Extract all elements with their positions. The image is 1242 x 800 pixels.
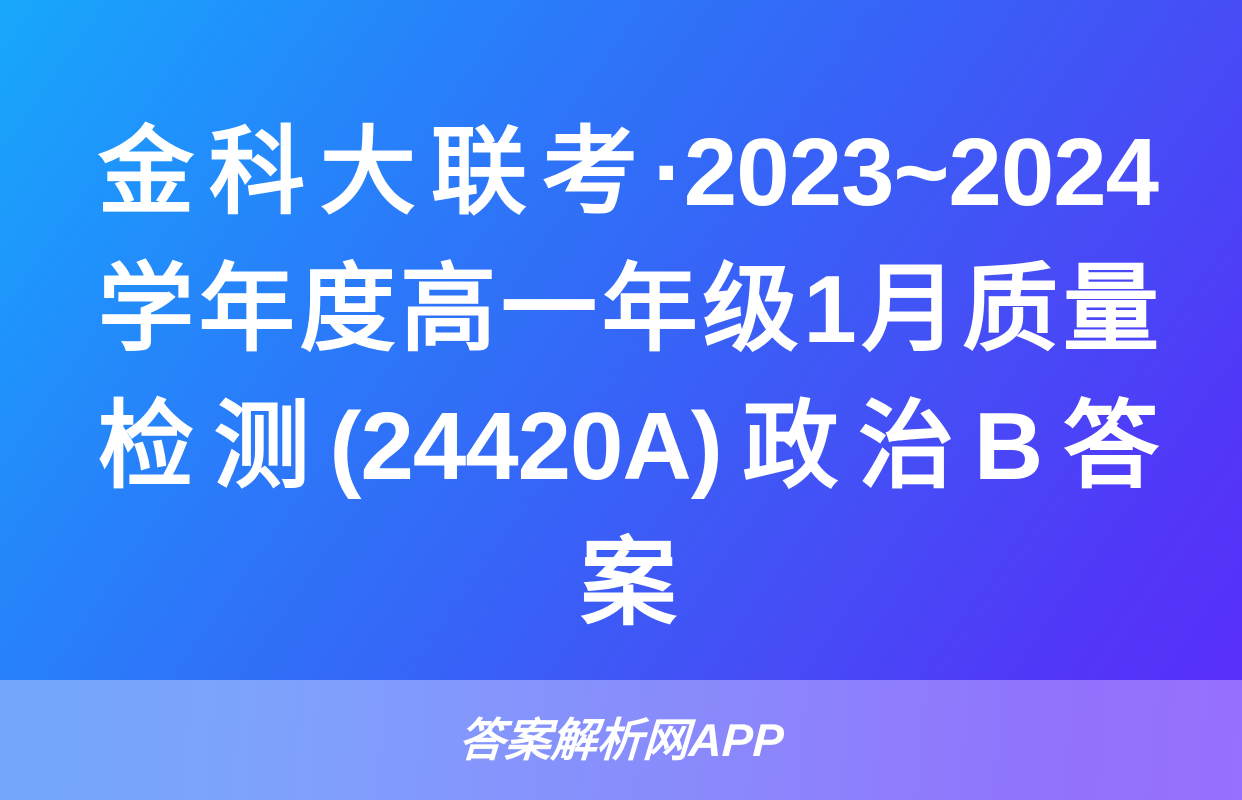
title-line-3: 检测(24420A)政治B答 [98, 378, 1158, 515]
page-title: 金科大联考·2023~2024 学年度高一年级1月质量 检测(24420A)政治… [98, 104, 1158, 652]
title-line-2: 学年度高一年级1月质量 [98, 241, 1158, 378]
title-line-4: 案 [98, 515, 1158, 652]
title-line-1: 金科大联考·2023~2024 [98, 104, 1158, 241]
watermark-banner: 答案解析网APP [0, 680, 1242, 800]
cover-card: 金科大联考·2023~2024 学年度高一年级1月质量 检测(24420A)政治… [0, 0, 1242, 800]
watermark-label: 答案解析网APP [457, 717, 784, 763]
